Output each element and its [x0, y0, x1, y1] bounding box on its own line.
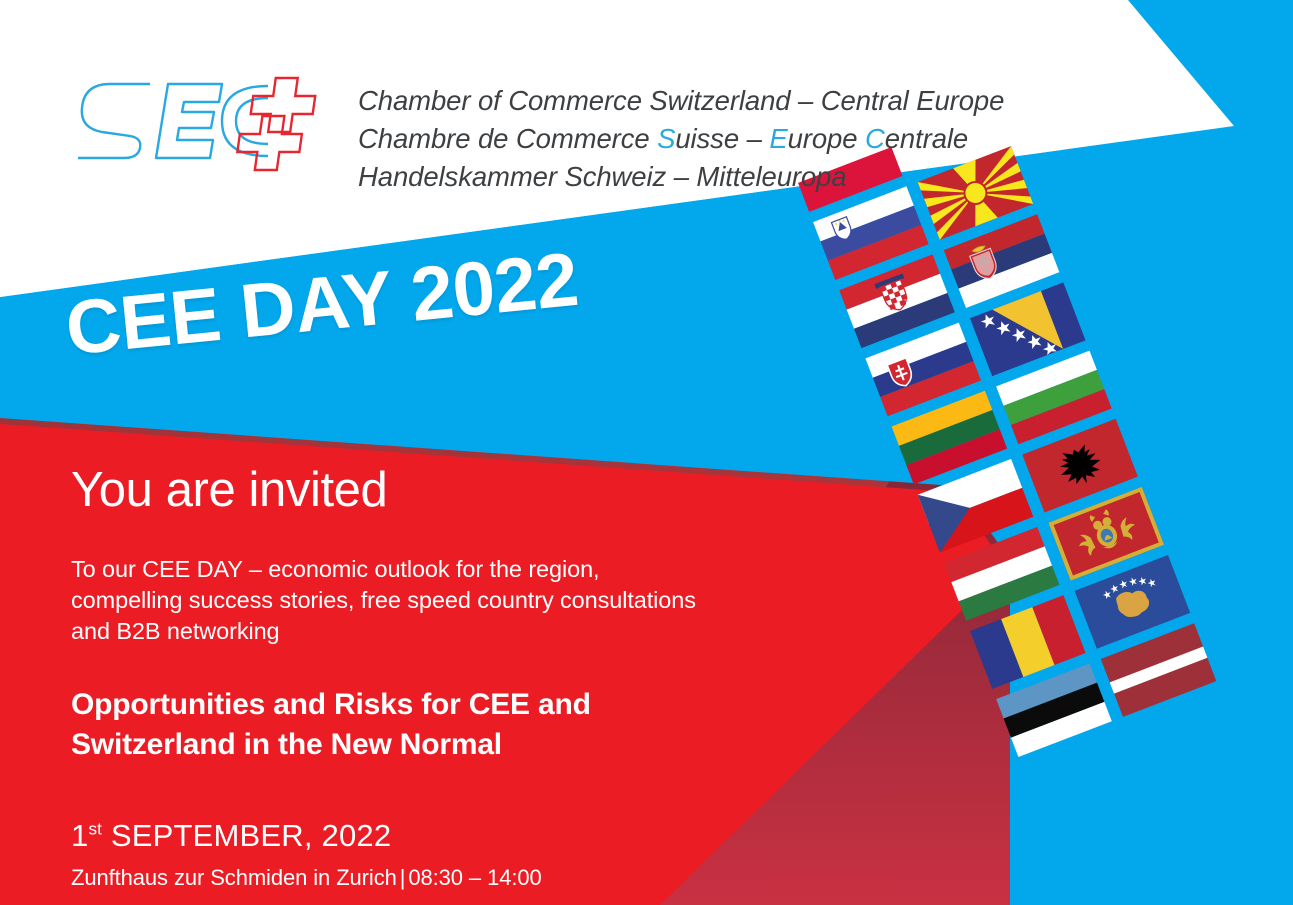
venue-separator: | [397, 865, 409, 890]
org-line-en: Chamber of Commerce Switzerland – Centra… [358, 82, 1004, 120]
headline-line-1: Opportunities and Risks for CEE and [71, 685, 771, 725]
org-text-run: urope [788, 123, 865, 154]
event-headline: Opportunities and Risks for CEE and Swit… [71, 685, 771, 765]
org-text-run: entrale [885, 123, 968, 154]
date-rest: SEPTEMBER, 2022 [102, 818, 391, 853]
event-venue: Zunfthaus zur Schmiden in Zurich|08:30 –… [71, 863, 771, 893]
org-highlight-letter: E [769, 123, 787, 154]
headline-line-2: Switzerland in the New Normal [71, 725, 771, 765]
org-line-de: Handelskammer Schweiz – Mitteleuropa [358, 158, 1004, 196]
date-day: 1 [71, 818, 88, 853]
lead-line-2: compelling success stories, free speed c… [71, 585, 771, 616]
invited-heading: You are invited [71, 462, 771, 518]
sec-logo [72, 62, 334, 192]
lead-line-1: To our CEE DAY – economic outlook for th… [71, 554, 771, 585]
header: Chamber of Commerce Switzerland – Centra… [72, 62, 1004, 196]
org-highlight-letter: S [657, 123, 675, 154]
lead-line-3: and B2B networking [71, 616, 771, 647]
org-highlight-letter: C [865, 123, 885, 154]
venue-time: 08:30 – 14:00 [408, 865, 541, 890]
org-names: Chamber of Commerce Switzerland – Centra… [358, 82, 1004, 196]
org-line-fr: Chambre de Commerce Suisse – Europe Cent… [358, 120, 1004, 158]
venue-place: Zunfthaus zur Schmiden in Zurich [71, 865, 397, 890]
org-text-run: uisse – [675, 123, 769, 154]
sec-logo-mark [72, 62, 334, 192]
lead-paragraph: To our CEE DAY – economic outlook for th… [71, 554, 771, 647]
event-date: 1st SEPTEMBER, 2022 [71, 817, 771, 855]
date-ordinal: st [88, 820, 102, 839]
invitation-body: You are invited To our CEE DAY – economi… [71, 462, 771, 893]
org-text-run: Chambre de Commerce [358, 123, 657, 154]
poster-canvas: Chamber of Commerce Switzerland – Centra… [0, 0, 1293, 905]
